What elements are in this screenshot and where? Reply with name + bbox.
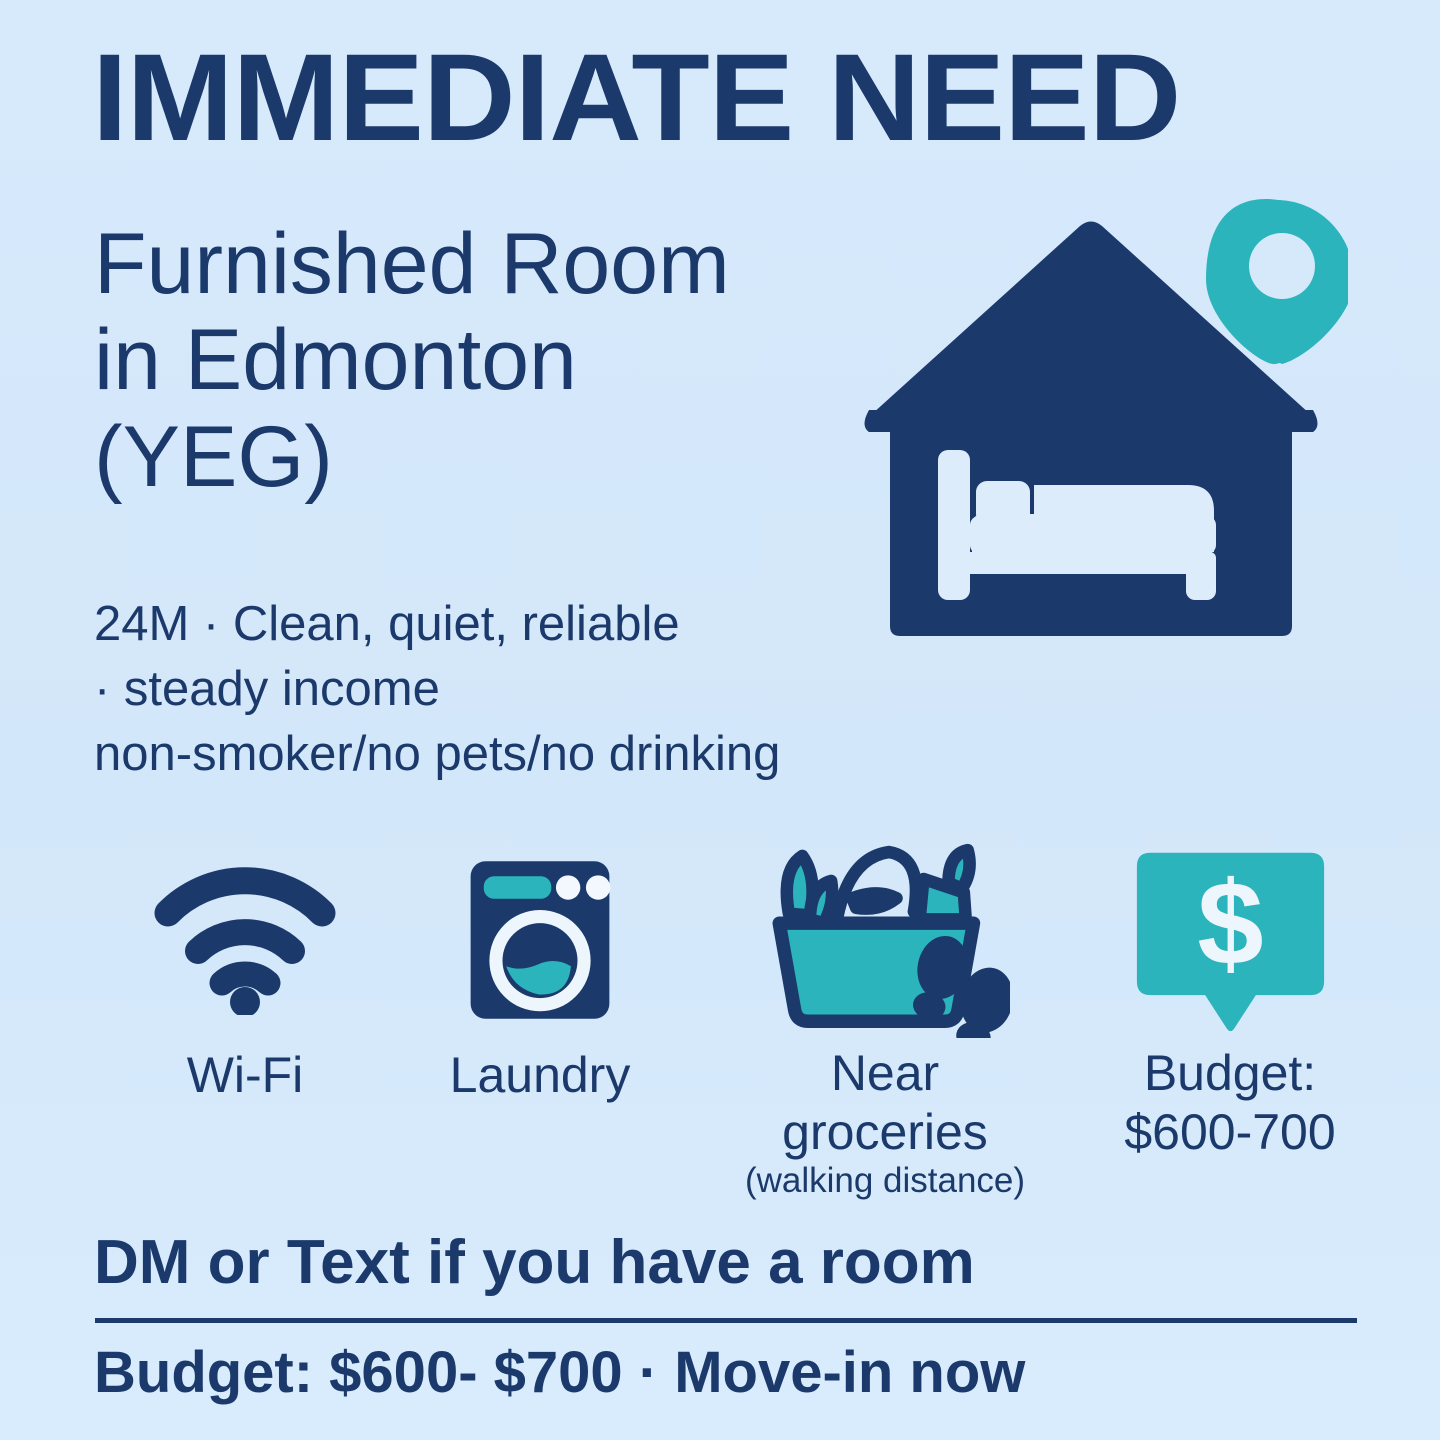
feature-budget: $ Budget: $600-700: [1080, 840, 1380, 1158]
feature-groceries-label-2: groceries: [690, 1107, 1080, 1158]
washer-icon: [400, 840, 680, 1040]
feature-laundry-label: Laundry: [400, 1048, 680, 1102]
subtitle-line-2: in Edmonton: [94, 312, 954, 408]
feature-laundry: Laundry: [400, 840, 680, 1102]
divider: [95, 1318, 1357, 1323]
feature-row: Wi-Fi Laundry: [80, 840, 1380, 1210]
description-line-1: 24M · Clean, quiet, reliable: [94, 592, 1124, 657]
description-line-3: non-smoker/no pets/no drinking: [94, 722, 1124, 787]
feature-budget-label-2: $600-700: [1080, 1107, 1380, 1158]
poster-canvas: IMMEDIATE NEED Furnished Room in Edmonto…: [0, 0, 1440, 1440]
feature-wifi: Wi-Fi: [100, 840, 390, 1102]
svg-text:$: $: [1197, 856, 1263, 989]
dollar-tag-icon: $: [1080, 840, 1380, 1040]
call-to-action: DM or Text if you have a room: [94, 1232, 1364, 1294]
description-line-2: · steady income: [94, 657, 1124, 722]
description-block: 24M · Clean, quiet, reliable · steady in…: [94, 592, 1124, 787]
feature-groceries-sublabel: (walking distance): [690, 1162, 1080, 1201]
footer-note: Budget: $600- $700 · Move-in now: [94, 1344, 1364, 1402]
feature-groceries: Near groceries (walking distance): [690, 840, 1080, 1201]
feature-wifi-label: Wi-Fi: [100, 1048, 390, 1102]
page-title: IMMEDIATE NEED: [92, 36, 1440, 160]
groceries-icon: [690, 840, 1080, 1040]
subtitle-block: Furnished Room in Edmonton (YEG): [94, 216, 954, 505]
subtitle-line-1: Furnished Room: [94, 216, 954, 312]
feature-budget-label-1: Budget:: [1080, 1048, 1380, 1099]
feature-groceries-label-1: Near: [690, 1048, 1080, 1099]
wifi-icon: [100, 840, 390, 1040]
subtitle-line-3: (YEG): [94, 409, 954, 505]
